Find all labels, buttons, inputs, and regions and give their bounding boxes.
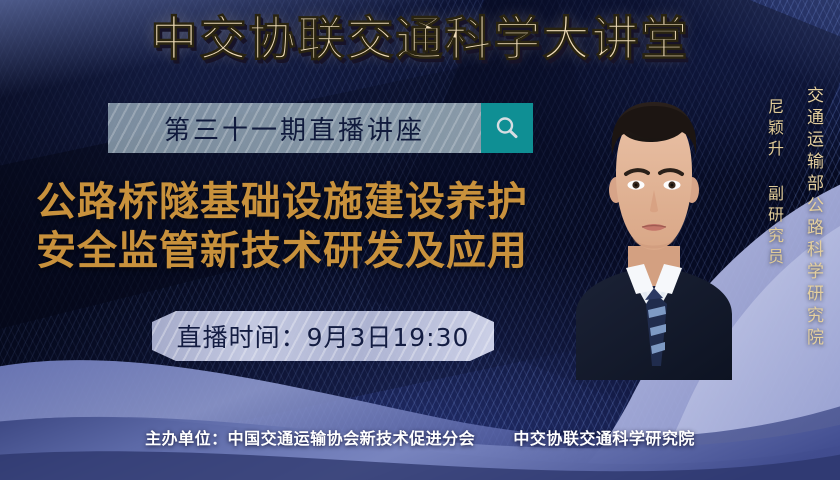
speaker-portrait — [566, 78, 742, 380]
page-title: 中交协联交通科学大讲堂 — [0, 16, 840, 63]
episode-banner-body: 第三十一期直播讲座 — [108, 103, 481, 153]
footer-organizer-suffix: 中交协联交通科学研究院 — [513, 429, 695, 448]
lecture-title-line-2: 安全监管新技术研发及应用 — [36, 227, 528, 276]
footer-organizer-prefix: 主办单位：中国交通运输协会新技术促进分会 — [145, 429, 475, 448]
speaker-name-title: 尼颖升 副研究员 — [762, 98, 786, 269]
broadcast-time-label: 直播时间：9月3日19:30 — [177, 318, 470, 354]
search-icon — [493, 114, 521, 142]
episode-label: 第三十一期直播讲座 — [164, 110, 425, 147]
lecture-title-line-1: 公路桥隧基础设施建设养护 — [36, 178, 528, 227]
broadcast-time-badge: 直播时间：9月3日19:30 — [152, 311, 494, 361]
episode-banner: 第三十一期直播讲座 — [108, 103, 533, 153]
lecture-title: 公路桥隧基础设施建设养护 安全监管新技术研发及应用 — [36, 178, 528, 276]
search-icon-box[interactable] — [481, 103, 533, 153]
speaker-organization: 交通运输部公路科学研究院 — [801, 86, 826, 350]
footer-organizers: 主办单位：中国交通运输协会新技术促进分会 中交协联交通科学研究院 — [0, 425, 840, 449]
live-stream-poster: 中交协联交通科学大讲堂 第三十一期直播讲座 公路桥隧基础设施建设养护 安全监管新… — [0, 0, 840, 480]
